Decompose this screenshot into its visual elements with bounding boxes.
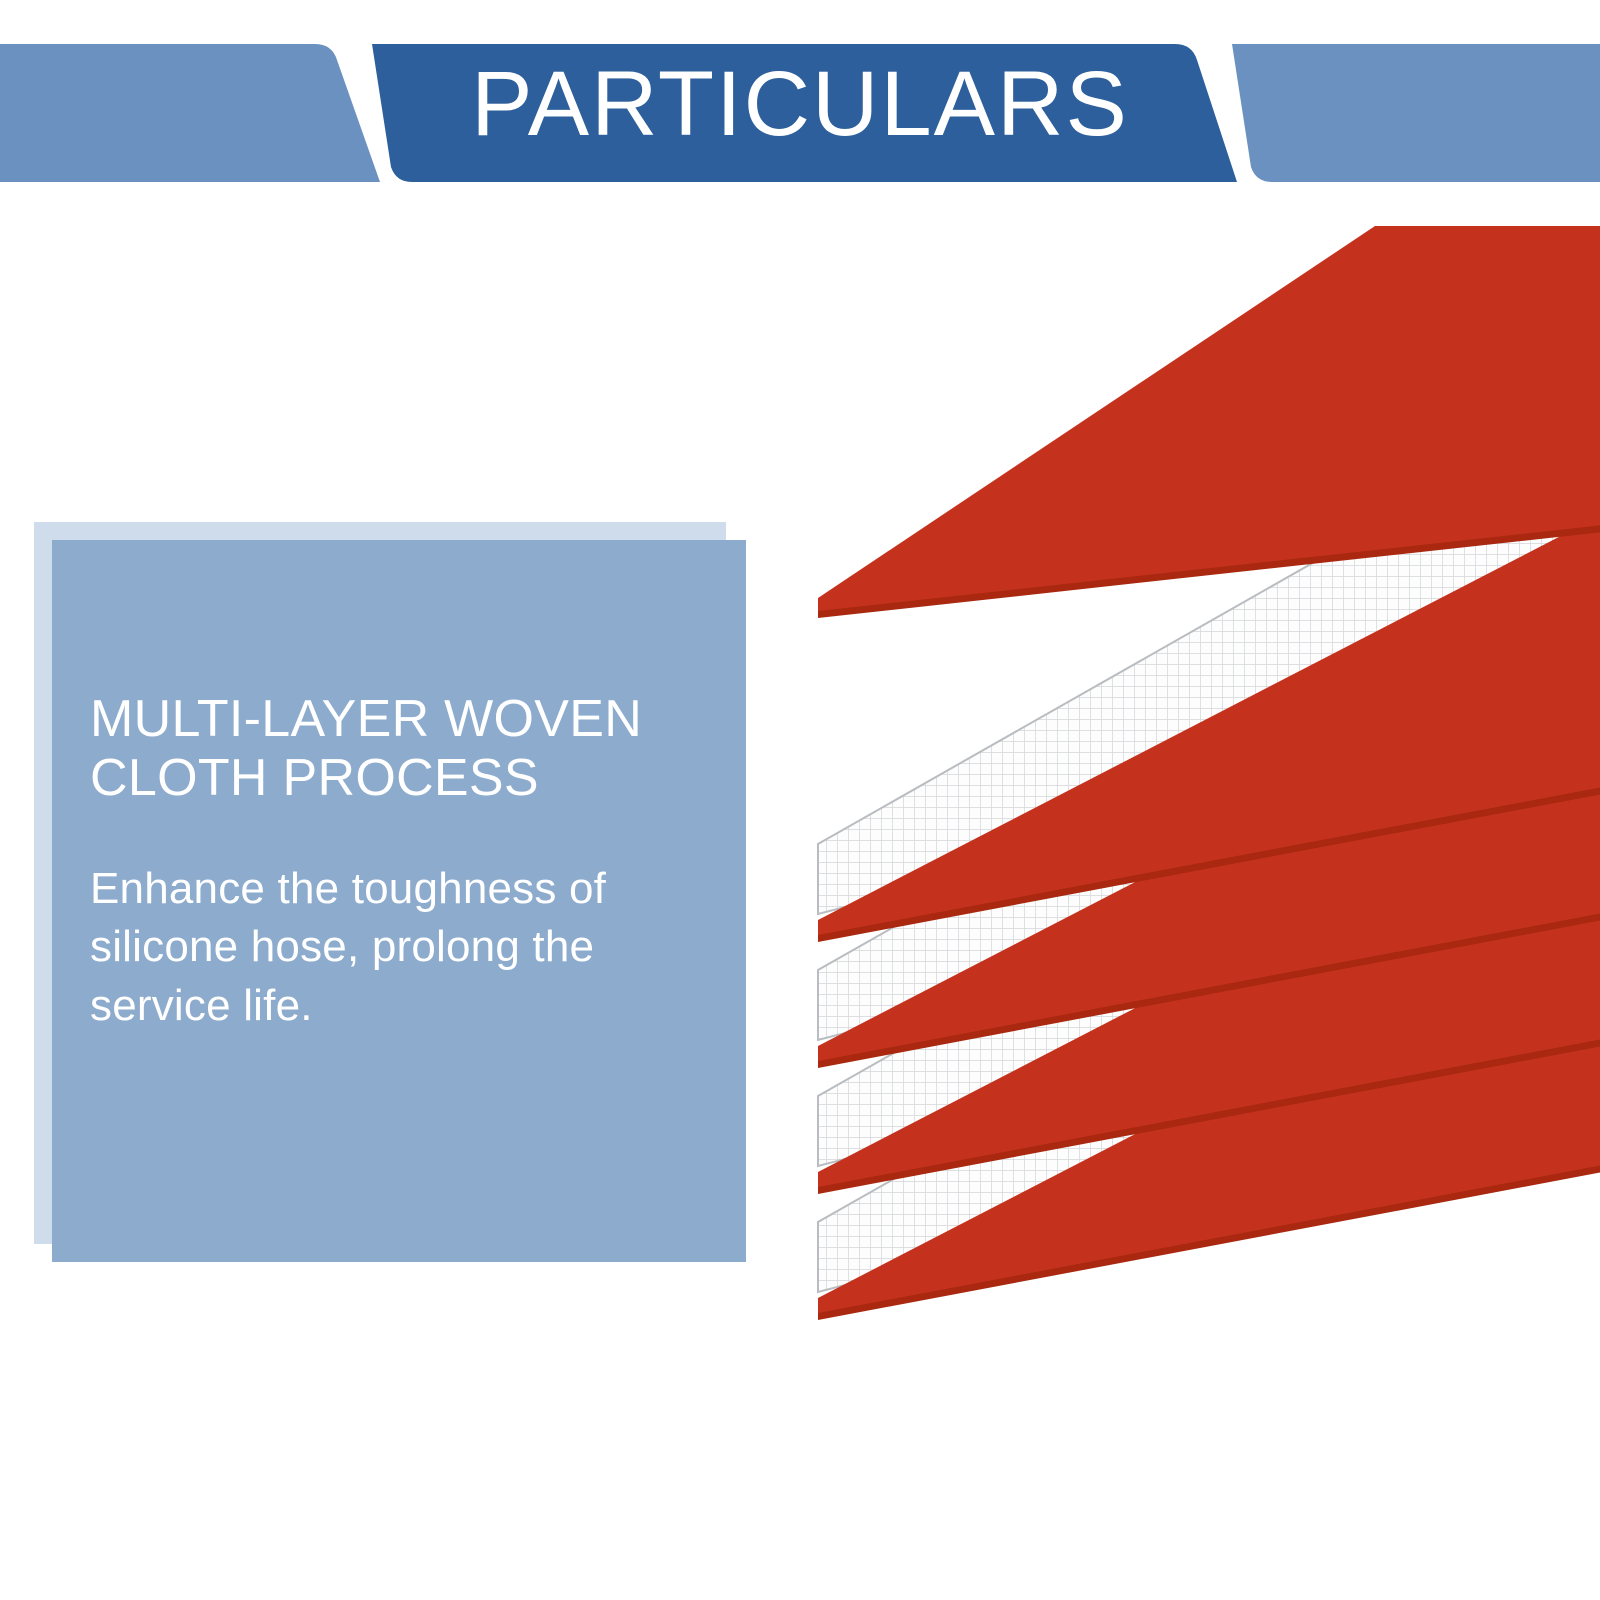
banner-band-right [1232, 44, 1600, 182]
layer-stack-illustration [760, 180, 1600, 1540]
info-card-title: MULTI-LAYER WOVEN CLOTH PROCESS [90, 690, 702, 808]
slide-canvas: PARTICULARS MULTI-LAYER WOVEN CLOTH PROC… [0, 0, 1600, 1600]
info-card: MULTI-LAYER WOVEN CLOTH PROCESS Enhance … [34, 522, 746, 1262]
layer-stack-svg [760, 180, 1600, 1540]
banner-band-left [0, 44, 380, 182]
info-card-description: Enhance the toughness of silicone hose, … [90, 860, 702, 1036]
banner-band-center [372, 44, 1237, 182]
info-card-panel: MULTI-LAYER WOVEN CLOTH PROCESS Enhance … [52, 540, 746, 1262]
